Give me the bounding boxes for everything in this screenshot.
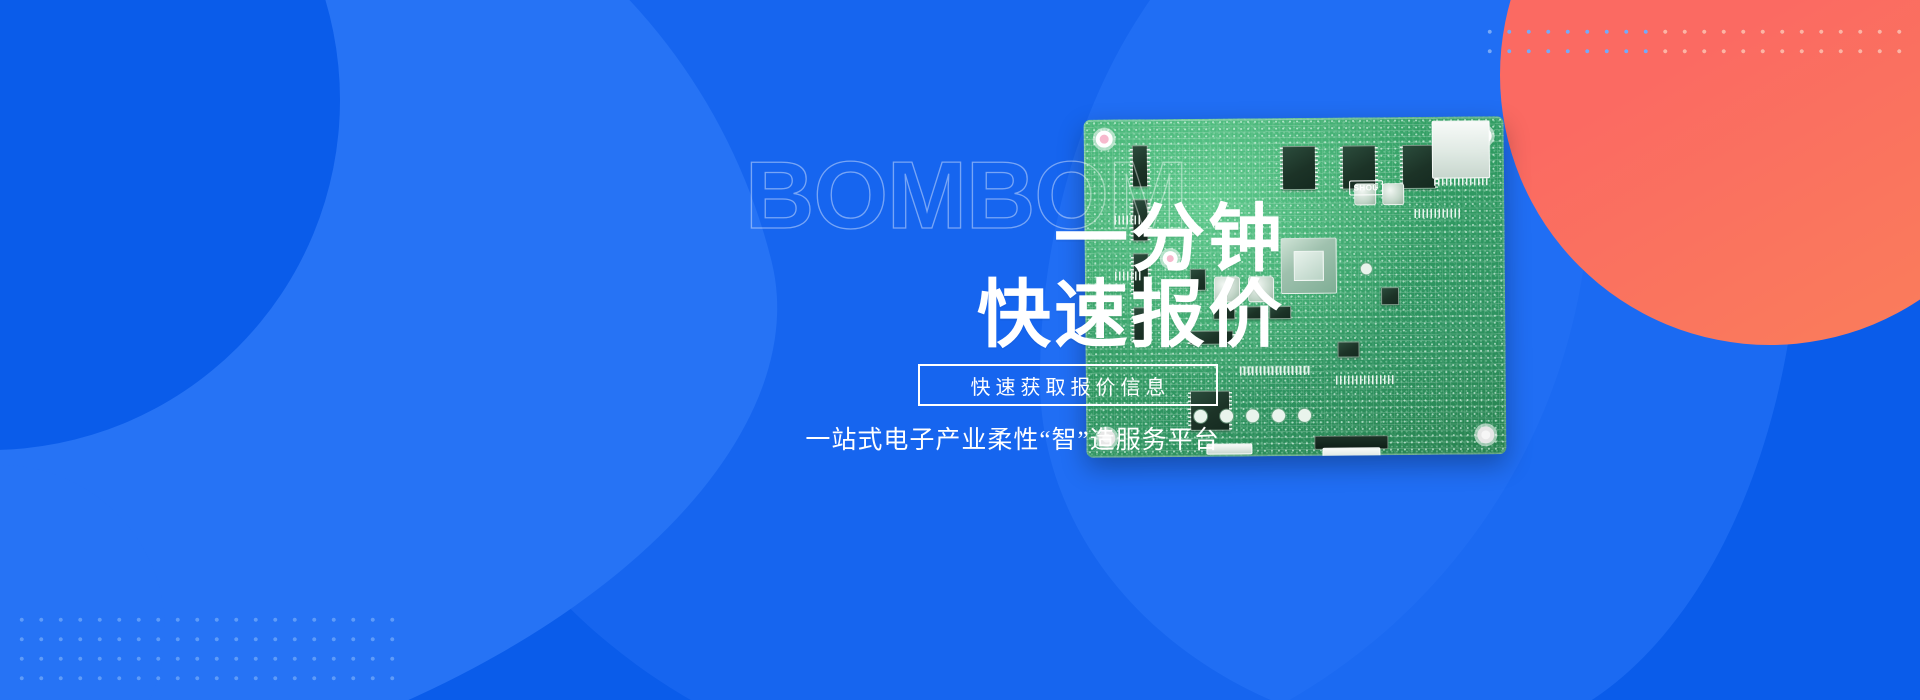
- pcb-processor: [1281, 238, 1337, 294]
- promo-banner: SHOU BOMBOM 一分钟 快速报价 快速获取报价信息 一站式电子产业柔性“…: [0, 0, 1920, 700]
- pcb-pad: [1298, 409, 1311, 422]
- pcb-pin-row: [1336, 375, 1396, 385]
- banner-tagline: 一站式电子产业柔性“智”造服务平台: [740, 420, 1285, 456]
- pcb-pin-row: [1434, 178, 1488, 185]
- headline-line-1: 一分钟: [1054, 202, 1285, 276]
- pcb-mounting-hole: [1477, 426, 1494, 443]
- pcb-silkscreen-label: SHOU: [1349, 180, 1383, 195]
- pcb-pin-row: [1414, 209, 1460, 218]
- pcb-inductor: [1382, 183, 1404, 205]
- pcb-chip: [1381, 287, 1399, 305]
- pcb-chip: [1282, 146, 1316, 190]
- pcb-pad: [1361, 263, 1372, 274]
- pcb-card-slot: [1432, 120, 1491, 179]
- pcb-chip: [1337, 341, 1359, 357]
- get-quote-button[interactable]: 快速获取报价信息: [918, 364, 1218, 406]
- dot-grid-bottom-left: [12, 610, 402, 688]
- banner-copy: BOMBOM 一分钟 快速报价 快速获取报价信息 一站式电子产业柔性“智”造服务…: [740, 148, 1285, 508]
- headline-line-2: 快速报价: [977, 278, 1285, 352]
